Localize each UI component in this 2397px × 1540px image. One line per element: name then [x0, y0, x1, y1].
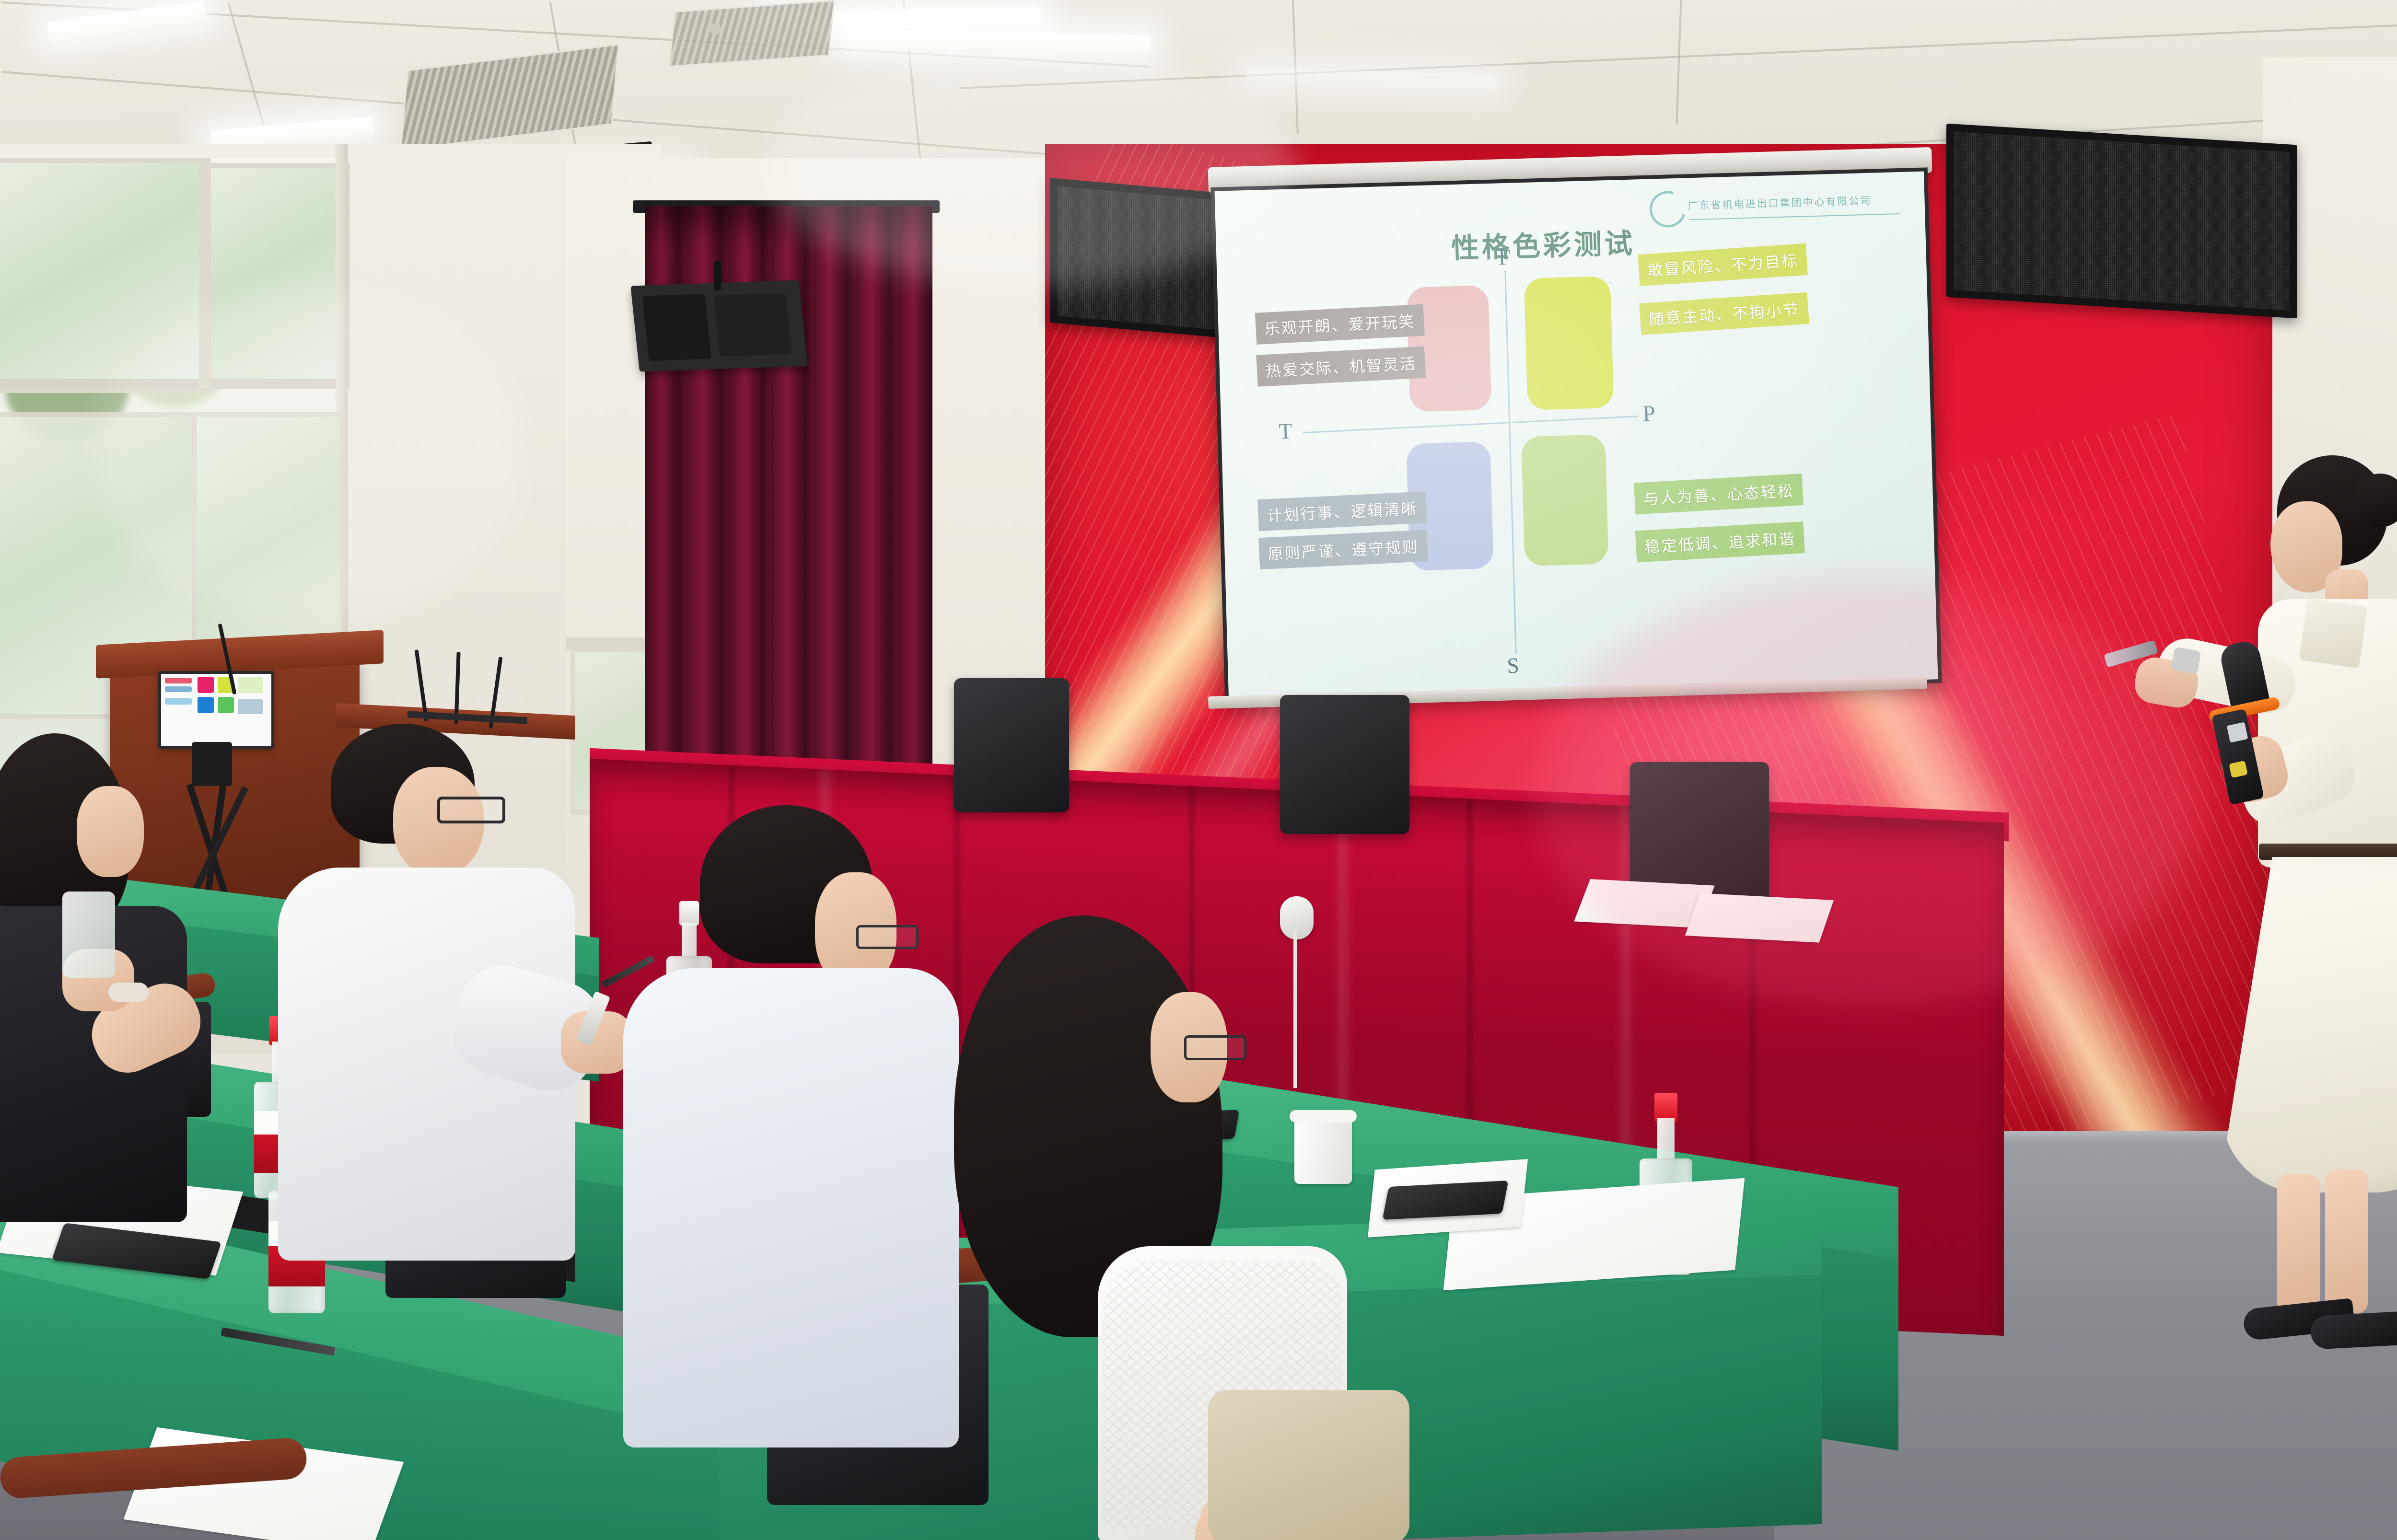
speaker-mount	[714, 261, 721, 290]
ui-tile	[238, 677, 263, 693]
mobile-phone[interactable]	[1382, 1181, 1508, 1220]
eyeglasses	[437, 797, 505, 823]
attendee-face	[77, 786, 144, 877]
wall-speaker	[630, 280, 807, 371]
attendee-held-bottle	[62, 892, 115, 978]
ui-tile	[198, 697, 214, 713]
quadrant-block-green	[1521, 434, 1608, 566]
company-logo-icon	[1643, 185, 1692, 233]
ui-tile	[198, 677, 214, 693]
company-logo-text: 广东省机电进出口集团中心有限公司	[1687, 193, 1872, 213]
attendee-black-top	[0, 733, 240, 1261]
conference-room-photo: 2025 年 6 月 15 星期 4 15:55:1 广东省机电进出口集团中心有…	[0, 0, 2397, 1540]
ui-tile	[238, 699, 263, 714]
audience-chair[interactable]	[0, 1447, 307, 1540]
bottle-neck	[1657, 1118, 1674, 1158]
trait-tag-bottom-left-2: 原则严谨、遵守规则	[1258, 530, 1428, 569]
speaker-driver	[642, 294, 711, 361]
trait-tag-top-right-2: 随意主动、不拘小节	[1639, 292, 1809, 335]
ui-tile	[218, 697, 234, 713]
ui-tile	[165, 686, 192, 692]
logo-underline	[1689, 213, 1900, 220]
eyeglasses	[1184, 1035, 1246, 1060]
slide-vertical-axis	[1504, 270, 1516, 654]
presenter-with-microphone	[2100, 455, 2397, 1376]
trait-tag-bottom-right-2: 稳定低调、追求和谐	[1635, 521, 1805, 562]
wristwatch	[2171, 647, 2201, 674]
axis-label-left: T	[1279, 418, 1293, 444]
presenter-leg	[2325, 1169, 2368, 1313]
trait-tag-bottom-right-1: 与人为善、心态轻松	[1634, 474, 1804, 514]
ui-tile	[165, 678, 192, 683]
presenter-shoe	[2310, 1310, 2397, 1350]
head-table-chair[interactable]	[1280, 695, 1409, 834]
microphone-display	[2227, 722, 2248, 742]
trait-tag-top-left-2: 热爱交际、机智灵活	[1256, 347, 1426, 387]
presenter-leg	[2277, 1174, 2320, 1313]
bottle-cap	[1654, 1093, 1677, 1122]
presenter-skirt	[2222, 857, 2397, 1193]
ceiling-air-vent	[668, 0, 835, 67]
attendee-bracelet	[108, 983, 149, 1002]
ui-tile	[165, 698, 192, 705]
trait-tag-bottom-left-1: 计划行事、逻辑清晰	[1257, 491, 1427, 531]
axis-label-right: P	[1642, 400, 1655, 426]
axis-label-bottom: S	[1507, 653, 1520, 679]
ceiling-light-bloom	[767, 48, 1294, 288]
speaker-horn	[713, 293, 792, 357]
seat-cushion	[1208, 1390, 1409, 1540]
window-light-bloom	[96, 288, 527, 623]
axis-label-top: F	[1498, 244, 1511, 270]
panel-mesh-texture	[1954, 132, 2290, 311]
attendee-white-shirt-glasses	[249, 724, 623, 1323]
trait-tag-top-left-1: 乐观开朗、爱开玩笑	[1255, 304, 1425, 345]
sprinkler-icon	[710, 23, 721, 35]
acoustic-panel-right	[1946, 124, 2297, 319]
trait-tag-top-right-1: 敢冒风险、不力目标	[1638, 243, 1808, 286]
slide-title: 性格色彩测试	[1451, 220, 1636, 266]
presenter-collar	[2299, 598, 2368, 668]
quadrant-block-yellow	[1524, 276, 1614, 410]
slide-horizontal-axis	[1303, 416, 1638, 433]
backdrop-light-bloom	[1534, 575, 2205, 1007]
head-table-chair[interactable]	[954, 678, 1069, 812]
